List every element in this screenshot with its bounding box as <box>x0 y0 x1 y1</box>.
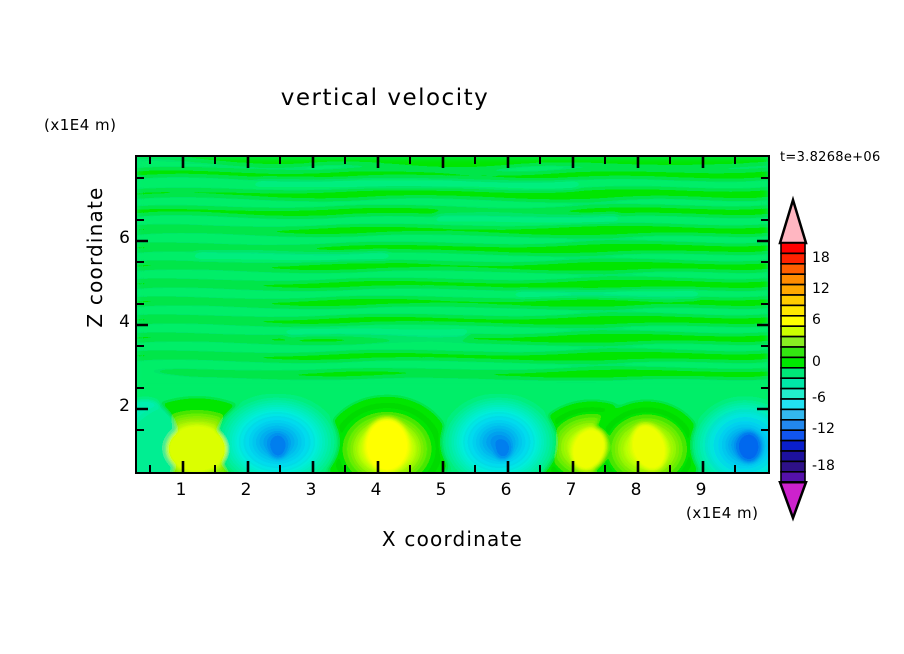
contour-plot-area <box>135 155 770 474</box>
figure-canvas: vertical velocity (x1E4 m) t=3.8268e+06 <box>0 0 904 654</box>
colorbar-tick-label-6: 6 <box>812 312 821 328</box>
colorbar-tick-label-neg18: -18 <box>812 458 835 474</box>
x-tick-label-9: 9 <box>686 480 716 500</box>
page-title: vertical velocity <box>0 85 770 111</box>
colorbar-tick-label-neg6: -6 <box>812 390 826 406</box>
colorbar-tick-label-18: 18 <box>812 250 830 266</box>
y-axis-unit-label: (x1E4 m) <box>44 116 117 134</box>
x-tick-label-6: 6 <box>491 480 521 500</box>
x-tick-label-8: 8 <box>621 480 651 500</box>
x-tick-label-7: 7 <box>556 480 586 500</box>
x-tick-label-2: 2 <box>231 480 261 500</box>
colorbar-bands <box>781 243 805 482</box>
x-axis-unit-label: (x1E4 m) <box>686 504 759 522</box>
colorbar-tick-label-neg12: -12 <box>812 421 835 437</box>
y-tick-label-2: 2 <box>100 396 130 416</box>
contour-field <box>137 157 768 472</box>
colorbar-tick-label-12: 12 <box>812 281 830 297</box>
x-tick-label-3: 3 <box>296 480 326 500</box>
colorbar-extend-top <box>780 200 806 243</box>
colorbar-tick-label-0: 0 <box>812 354 821 370</box>
x-tick-label-1: 1 <box>166 480 196 500</box>
y-axis-title: Z coordinate <box>83 137 107 377</box>
x-axis-title: X coordinate <box>135 527 770 551</box>
x-tick-label-5: 5 <box>426 480 456 500</box>
colorbar-extend-bottom <box>780 482 806 518</box>
x-tick-label-4: 4 <box>361 480 391 500</box>
timestamp-annotation: t=3.8268e+06 <box>780 150 881 165</box>
